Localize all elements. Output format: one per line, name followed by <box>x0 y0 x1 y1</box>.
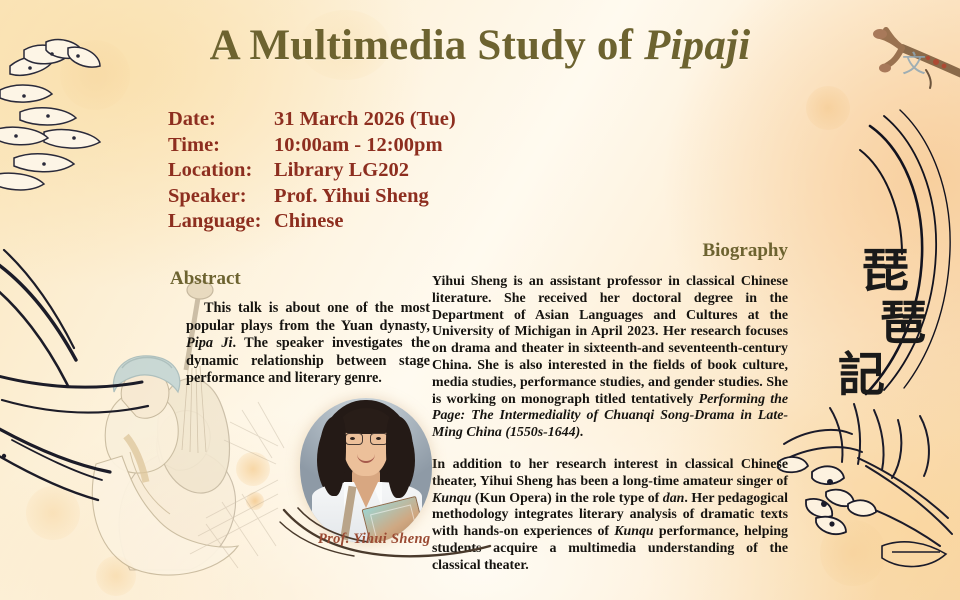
portrait-eye-left <box>350 437 355 440</box>
detail-label-location: Location: <box>168 158 274 184</box>
speaker-portrait <box>300 398 432 543</box>
bio-p2-part1: In addition to her research interest in … <box>432 457 788 489</box>
detail-label-language: Language: <box>168 209 274 235</box>
detail-row-language: Language: Chinese <box>168 209 456 235</box>
detail-value-language: Chinese <box>274 209 456 235</box>
detail-value-speaker: Prof. Yihui Sheng <box>274 184 456 210</box>
portrait-hair-left <box>320 416 346 496</box>
bio-p2-italic3: Kunqu <box>614 524 653 539</box>
calligraphy-char-ji: 記 <box>838 352 885 399</box>
detail-row-location: Location: Library LG202 <box>168 158 456 184</box>
abstract-text-part1: This talk is about one of the most popul… <box>186 300 430 334</box>
detail-label-date: Date: <box>168 107 274 133</box>
bio-p1-part1: Yihui Sheng is an assistant professor in… <box>432 274 788 407</box>
abstract-text-italic: Pipa Ji <box>186 335 232 351</box>
detail-row-speaker: Speaker: Prof. Yihui Sheng <box>168 184 456 210</box>
seminar-poster: 文 <box>0 0 960 600</box>
event-details: Date: 31 March 2026 (Tue) Time: 10:00am … <box>168 107 456 235</box>
detail-row-date: Date: 31 March 2026 (Tue) <box>168 107 456 133</box>
bio-p2-italic2: dan <box>663 491 685 506</box>
detail-value-location: Library LG202 <box>274 158 456 184</box>
title-prefix: A Multimedia Study of <box>210 22 644 69</box>
calligraphy-char-pi: 琵 <box>862 248 909 295</box>
portrait-hair-right <box>386 416 413 498</box>
calligraphy-char-pa: 琶 <box>880 300 927 347</box>
abstract-heading: Abstract <box>170 268 241 290</box>
avatar <box>300 398 432 543</box>
detail-value-date: 31 March 2026 (Tue) <box>274 107 456 133</box>
detail-label-speaker: Speaker: <box>168 184 274 210</box>
abstract-text: This talk is about one of the most popul… <box>186 300 430 388</box>
detail-row-time: Time: 10:00am - 12:00pm <box>168 133 456 159</box>
biography-text: Yihui Sheng is an assistant professor in… <box>432 274 788 575</box>
biography-paragraph-2: In addition to her research interest in … <box>432 457 788 575</box>
title-italic: Pipaji <box>644 22 750 69</box>
page-title: A Multimedia Study of Pipaji <box>0 22 960 69</box>
detail-label-time: Time: <box>168 133 274 159</box>
bio-p2-part2: (Kun Opera) in the role type of <box>471 491 662 506</box>
bio-p2-italic1: Kunqu <box>432 491 471 506</box>
biography-heading: Biography <box>430 240 788 262</box>
portrait-caption: Prof. Yihui Sheng <box>318 531 430 548</box>
detail-value-time: 10:00am - 12:00pm <box>274 133 456 159</box>
portrait-eye-right <box>376 437 381 440</box>
biography-paragraph-1: Yihui Sheng is an assistant professor in… <box>432 274 788 442</box>
